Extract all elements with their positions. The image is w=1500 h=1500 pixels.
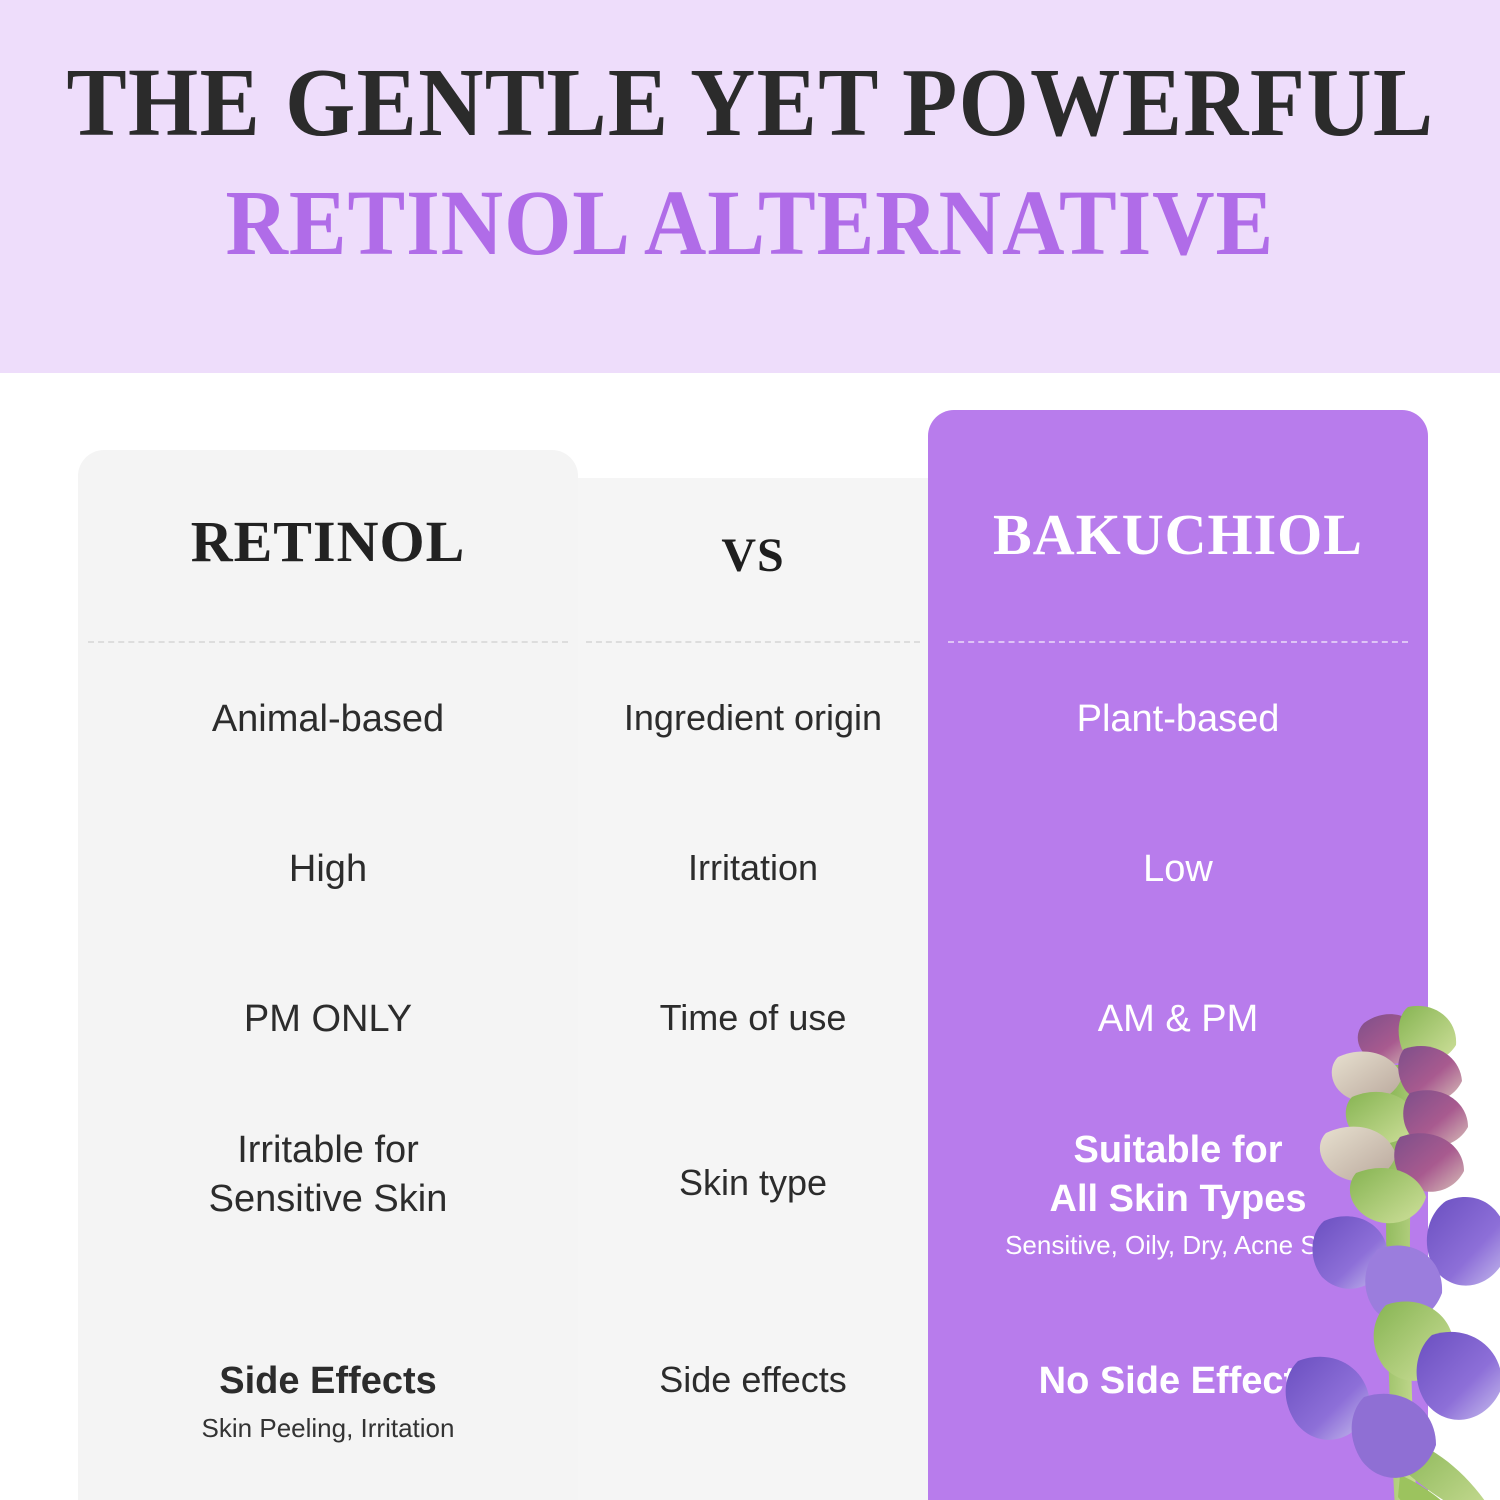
divider-mid (586, 641, 920, 643)
cell-bakuchiol-value: Low (928, 845, 1428, 894)
divider-left (88, 641, 568, 643)
cell-attribute-label: Ingredient origin (578, 695, 928, 741)
cell-attribute-label: Irritation (578, 845, 928, 891)
column-header-vs: VS (578, 528, 928, 583)
column-header-bakuchiol: BAKUCHIOL (928, 501, 1428, 568)
cell-retinol-subnote: Skin Peeling, Irritation (78, 1412, 578, 1445)
column-attributes (578, 478, 928, 1500)
cell-retinol-value: PM ONLY (78, 995, 578, 1044)
cell-retinol-value: Side EffectsSkin Peeling, Irritation (78, 1357, 578, 1444)
cell-bakuchiol-subnote: Sensitive, Oily, Dry, Acne Skin (928, 1229, 1428, 1262)
cell-bakuchiol-value: AM & PM (928, 995, 1428, 1044)
header-band: THE GENTLE YET POWERFUL RETINOL ALTERNAT… (0, 0, 1500, 373)
cell-retinol-value: Animal-based (78, 695, 578, 744)
column-header-retinol: RETINOL (78, 508, 578, 575)
page-title-line1: THE GENTLE YET POWERFUL (66, 54, 1434, 151)
cell-attribute-label: Skin type (578, 1160, 928, 1206)
cell-attribute-label: Time of use (578, 995, 928, 1041)
cell-attribute-label: Side effects (578, 1357, 928, 1403)
column-retinol (78, 450, 578, 1500)
cell-retinol-value: Irritable forSensitive Skin (78, 1126, 578, 1223)
cell-bakuchiol-value: No Side Effects (928, 1357, 1428, 1406)
divider-right (948, 641, 1408, 643)
cell-bakuchiol-value: Suitable forAll Skin TypesSensitive, Oil… (928, 1126, 1428, 1262)
comparison-infographic: THE GENTLE YET POWERFUL RETINOL ALTERNAT… (0, 0, 1500, 1500)
cell-bakuchiol-value: Plant-based (928, 695, 1428, 744)
page-title-line2: RETINOL ALTERNATIVE (226, 177, 1275, 270)
header-inner: THE GENTLE YET POWERFUL RETINOL ALTERNAT… (0, 0, 1500, 373)
comparison-area: RETINOL VS BAKUCHIOL Animal-based Ingred… (0, 373, 1500, 1500)
column-bakuchiol (928, 410, 1428, 1500)
cell-retinol-value: High (78, 845, 578, 894)
